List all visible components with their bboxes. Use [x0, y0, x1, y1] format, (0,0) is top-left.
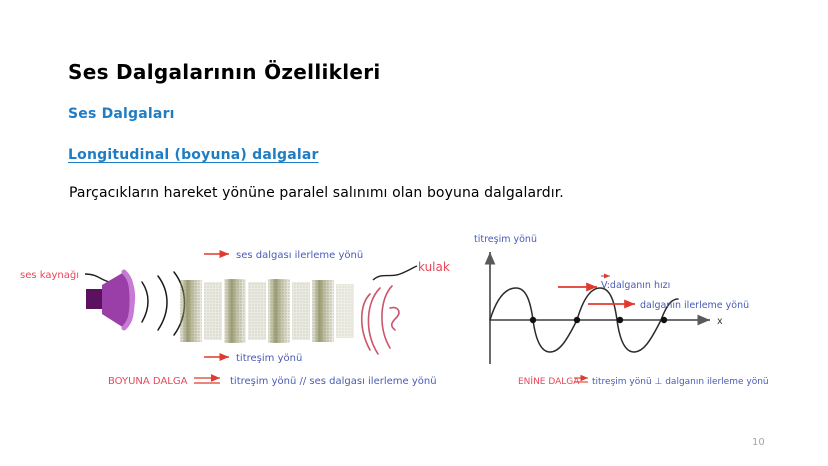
label-propagation-transverse: dalganın ilerleme yönü — [640, 300, 749, 311]
particle-compression-bands — [180, 279, 354, 343]
speaker-icon — [86, 272, 135, 328]
label-vibration-direction: titreşim yönü — [236, 353, 302, 364]
section-subtitle: Ses Dalgaları — [68, 106, 175, 122]
y-axis-label: titreşim yönü — [474, 234, 537, 245]
label-velocity: V:dalganın hızı — [601, 280, 670, 291]
x-axis-label: x — [717, 316, 723, 327]
ear-icon — [362, 286, 399, 354]
slide-canvas: Ses Dalgalarının Özellikleri Ses Dalgala… — [0, 0, 828, 466]
sound-arcs — [142, 272, 185, 335]
caption-rest-longitudinal: titreşim yönü // ses dalgası ilerleme yö… — [230, 376, 437, 387]
label-sound-source: ses kaynağı — [20, 269, 79, 281]
page-number: 10 — [752, 437, 765, 448]
longitudinal-wave-figure: ses dalgası ilerleme yönü titreşim yönü … — [18, 232, 468, 400]
velocity-vector-label: V:dalganın hızı — [601, 276, 670, 291]
body-paragraph: Parçacıkların hareket yönüne paralel sal… — [69, 185, 564, 201]
page-title: Ses Dalgalarının Özellikleri — [68, 60, 381, 84]
caption-term-longitudinal: BOYUNA DALGA — [108, 376, 188, 387]
label-ear: kulak — [418, 260, 450, 274]
ear-leader-line — [373, 266, 417, 280]
transverse-wave-figure: titreşim yönü x — [470, 232, 800, 400]
label-propagation-direction: ses dalgası ilerleme yönü — [236, 250, 363, 261]
caption-rest-transverse: titreşim yönü ⊥ dalganın ilerleme yönü — [592, 377, 769, 387]
caption-arrow-longitudinal — [194, 378, 220, 383]
link-heading-longitudinal[interactable]: Longitudinal (boyuna) dalgalar — [68, 147, 319, 163]
caption-term-transverse: ENİNE DALGA — [518, 376, 580, 387]
